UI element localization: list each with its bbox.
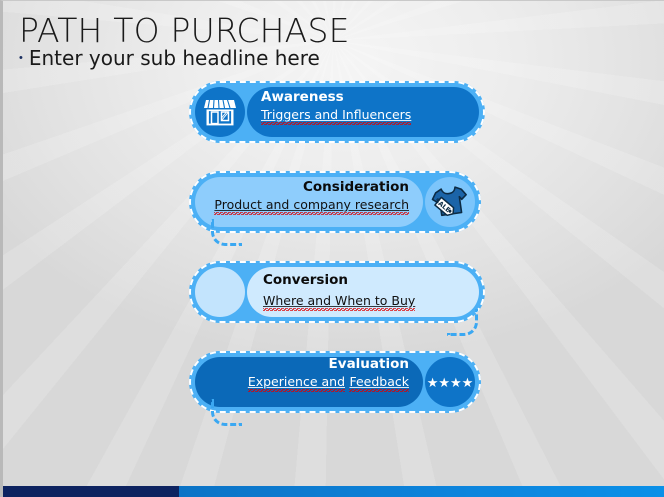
stage-label-conversion: Conversion bbox=[263, 272, 471, 289]
stage-icon-pod-conversion[interactable] bbox=[189, 261, 251, 323]
slide-header: PATH TO PURCHASE • Enter your sub headli… bbox=[19, 13, 619, 70]
subtitle-row: • Enter your sub headline here bbox=[19, 46, 619, 70]
stage-text-conversion: Conversion Where and When to Buy bbox=[263, 272, 471, 310]
stage-icon-pod-evaluation[interactable]: ★★★★ bbox=[419, 351, 481, 413]
four-stars-icon: ★★★★ bbox=[427, 376, 474, 389]
connector-conversion-to-evaluation bbox=[211, 399, 242, 426]
stage-text-awareness: Awareness Triggers and Influencers bbox=[261, 89, 471, 124]
tshirt-sale-tag-icon: SALE bbox=[430, 183, 470, 221]
bottom-bar-dark-segment bbox=[3, 486, 179, 497]
connector-consideration-to-conversion bbox=[447, 309, 478, 336]
slide-canvas: PATH TO PURCHASE • Enter your sub headli… bbox=[0, 0, 664, 497]
stage-description-awareness: Triggers and Influencers bbox=[261, 107, 411, 123]
page-subtitle[interactable]: Enter your sub headline here bbox=[29, 46, 320, 70]
stage-text-consideration: Consideration Product and company resear… bbox=[203, 179, 409, 214]
stage-description-evaluation-line1: Experience and bbox=[248, 374, 345, 390]
connector-awareness-to-consideration bbox=[211, 219, 242, 246]
stage-label-consideration: Consideration bbox=[203, 179, 409, 196]
stage-description-consideration: Product and company research bbox=[214, 197, 409, 213]
funnel-stage-awareness[interactable]: Awareness Triggers and Influencers bbox=[189, 81, 485, 143]
stage-description-conversion: Where and When to Buy bbox=[263, 293, 415, 309]
stage-text-evaluation: Evaluation Experience and Feedback bbox=[203, 356, 409, 391]
page-title[interactable]: PATH TO PURCHASE bbox=[19, 13, 619, 49]
stage-description-evaluation-line2: Feedback bbox=[349, 374, 409, 390]
storefront-icon bbox=[203, 97, 237, 127]
bottom-accent-bar bbox=[3, 486, 664, 497]
stage-label-evaluation: Evaluation bbox=[203, 356, 409, 373]
stage-icon-pod-awareness[interactable] bbox=[189, 81, 251, 143]
bullet-glyph-icon: • bbox=[19, 53, 23, 64]
stage-icon-pod-consideration[interactable]: SALE bbox=[419, 171, 481, 233]
bottom-bar-light-segment bbox=[179, 486, 664, 497]
stage-label-awareness: Awareness bbox=[261, 89, 471, 106]
funnel-stage-conversion[interactable]: Conversion Where and When to Buy bbox=[189, 261, 485, 323]
path-to-purchase-funnel: Awareness Triggers and Influencers bbox=[189, 81, 499, 431]
